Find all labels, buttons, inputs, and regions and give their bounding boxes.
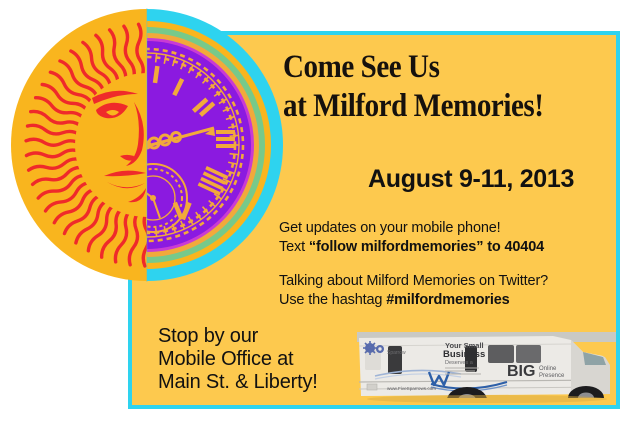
location-line-1: Stop by our bbox=[158, 325, 318, 348]
flyer-canvas: Come See Us at Milford Memories! August … bbox=[0, 0, 632, 421]
sun-clock-emblem-icon bbox=[8, 6, 286, 284]
rv-presence-line-1: Online bbox=[539, 366, 557, 372]
location-line-2: Mobile Office at bbox=[158, 348, 318, 371]
svg-text:Sparrow: Sparrow bbox=[387, 350, 406, 356]
mobile-line-1: Get updates on your mobile phone! bbox=[279, 219, 544, 238]
rv-url-text: www.FiveSparrows.com bbox=[387, 386, 436, 391]
headline-line-1: Come See Us bbox=[283, 49, 439, 85]
rv-presence-line-2: Presence bbox=[539, 373, 565, 379]
mobile-text-prefix: Text bbox=[279, 239, 309, 255]
headline-line-2: at Milford Memories! bbox=[283, 87, 573, 126]
rv-big-text: BIG bbox=[507, 363, 535, 380]
event-date: August 9-11, 2013 bbox=[368, 165, 574, 194]
mobile-updates-block: Get updates on your mobile phone! Text “… bbox=[279, 219, 544, 257]
location-block: Stop by our Mobile Office at Main St. & … bbox=[158, 325, 318, 394]
mobile-text-command: “follow milfordmemories” to 40404 bbox=[309, 239, 544, 255]
location-line-3: Main St. & Liberty! bbox=[158, 371, 318, 394]
rv-tagline-line-2: Business bbox=[443, 349, 485, 360]
twitter-line-1: Talking about Milford Memories on Twitte… bbox=[279, 272, 548, 291]
rv-tagline-line-3: Deserves a bbox=[445, 360, 474, 366]
twitter-line-2: Use the hashtag #milfordmemories bbox=[279, 291, 548, 310]
mobile-line-2: Text “follow milfordmemories” to 40404 bbox=[279, 238, 544, 257]
hashtag-prefix: Use the hashtag bbox=[279, 292, 386, 308]
twitter-hashtag-block: Talking about Milford Memories on Twitte… bbox=[279, 272, 548, 310]
page-title: Come See Us at Milford Memories! bbox=[283, 48, 573, 126]
mobile-office-rv-photo: Sparrow Your Small Business Deserves a B… bbox=[357, 332, 616, 405]
hashtag-value: #milfordmemories bbox=[386, 292, 509, 308]
